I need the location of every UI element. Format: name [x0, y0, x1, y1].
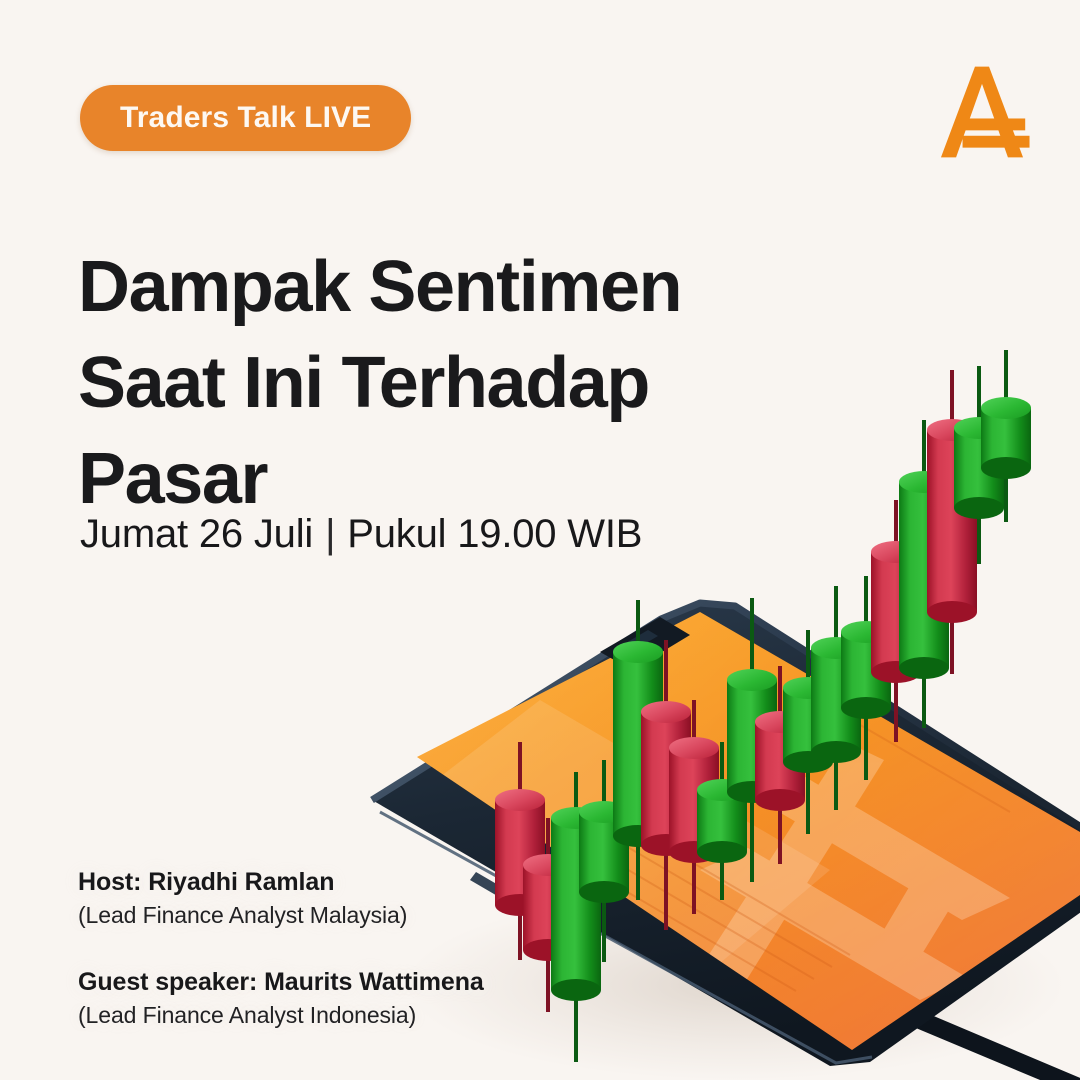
schedule-separator: | — [325, 514, 335, 554]
event-date: Jumat 26 Juli — [80, 512, 313, 556]
headline-line-1: Dampak Sentimen — [78, 240, 838, 336]
guest-name: Guest speaker: Maurits Wattimena — [78, 966, 598, 999]
badge-label: Traders Talk LIVE — [120, 103, 371, 133]
page-title: Dampak Sentimen Saat Ini Terhadap Pasar — [78, 240, 838, 527]
ascendex-a-logo-icon — [928, 58, 1036, 166]
traders-talk-live-badge[interactable]: Traders Talk LIVE — [80, 85, 411, 151]
headline-line-2: Saat Ini Terhadap — [78, 336, 838, 432]
event-schedule: Jumat 26 Juli|Pukul 19.00 WIB — [80, 514, 642, 554]
guest-role: (Lead Finance Analyst Indonesia) — [78, 999, 598, 1032]
speaker-host: Host: Riyadhi Ramlan (Lead Finance Analy… — [78, 866, 598, 932]
host-name: Host: Riyadhi Ramlan — [78, 866, 598, 899]
speakers-block: Host: Riyadhi Ramlan (Lead Finance Analy… — [78, 866, 598, 1033]
event-time: Pukul 19.00 WIB — [347, 512, 642, 556]
host-role: (Lead Finance Analyst Malaysia) — [78, 899, 598, 932]
speaker-guest: Guest speaker: Maurits Wattimena (Lead F… — [78, 966, 598, 1032]
poster-canvas: Traders Talk LIVE Dampak Sentimen Saat I… — [0, 0, 1080, 1080]
